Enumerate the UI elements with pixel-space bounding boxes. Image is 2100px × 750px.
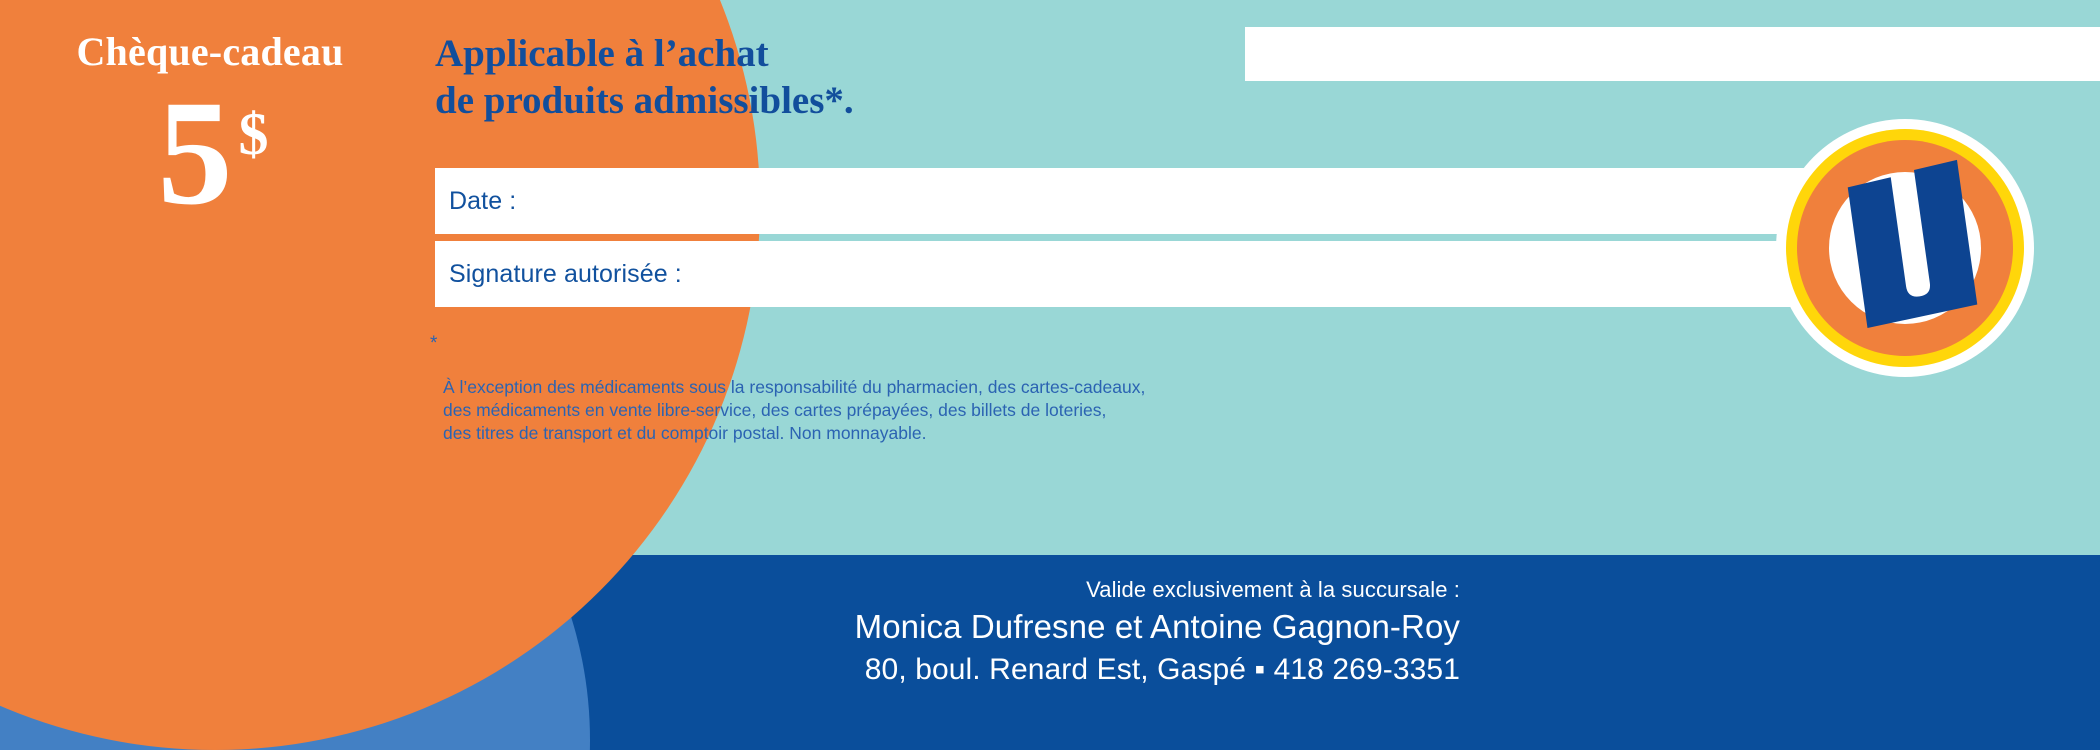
- uniprix-logo-icon: [1775, 118, 2035, 378]
- date-field[interactable]: Date :: [435, 168, 1875, 234]
- validity-label: Valide exclusivement à la succursale :: [360, 575, 1460, 605]
- certificate-title: Chèque-cadeau: [0, 28, 420, 75]
- store-info: Valide exclusivement à la succursale : M…: [360, 575, 1460, 691]
- currency-symbol: $: [239, 101, 269, 167]
- footnote: * À l’exception des médicaments sous la …: [430, 330, 1145, 468]
- amount-row: 5$: [0, 78, 420, 228]
- amount-value: 5: [158, 70, 233, 236]
- serial-number-box[interactable]: [1245, 27, 2100, 81]
- gift-certificate: Chèque-cadeau 5$ Applicable à l’achat de…: [0, 0, 2100, 750]
- footnote-asterisk: *: [430, 332, 437, 355]
- headline: Applicable à l’achat de produits admissi…: [435, 30, 854, 124]
- footnote-text: À l’exception des médicaments sous la re…: [430, 376, 1145, 445]
- store-name: Monica Dufresne et Antoine Gagnon-Roy: [360, 605, 1460, 649]
- signature-field-label: Signature autorisée :: [449, 260, 682, 289]
- amount-panel: Chèque-cadeau 5$: [0, 0, 420, 430]
- signature-field[interactable]: Signature autorisée :: [435, 241, 1875, 307]
- store-address: 80, boul. Renard Est, Gaspé ▪ 418 269-33…: [360, 649, 1460, 691]
- date-field-label: Date :: [449, 187, 516, 216]
